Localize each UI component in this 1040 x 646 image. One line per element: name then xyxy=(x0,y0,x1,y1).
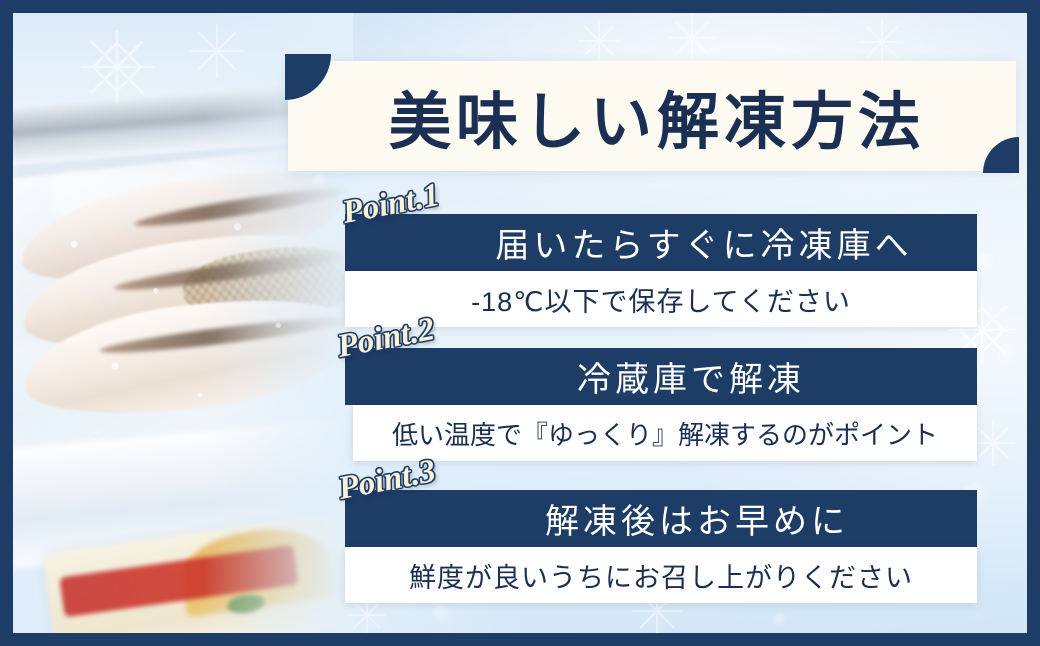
point-heading-bar-3: 解凍後はお早めに xyxy=(345,490,977,547)
point-heading-bar-1: 届いたらすぐに冷凍庫へ xyxy=(345,214,977,271)
snowflake-icon xyxy=(573,15,625,67)
title-banner: 美味しい解凍方法 xyxy=(288,61,1016,171)
bokeh-dot xyxy=(433,605,453,625)
point-block-1: 届いたらすぐに冷凍庫へ -18℃以下で保存してください Point.1 xyxy=(345,214,977,327)
point-heading-text-1: 届いたらすぐに冷凍庫へ xyxy=(495,218,912,267)
bokeh-dot xyxy=(773,613,789,629)
point-heading-bar-2: 冷蔵庫で解凍 xyxy=(345,348,977,405)
point-subtitle-text-1: -18℃以下で保存してください xyxy=(471,280,851,319)
point-subtitle-text-3: 鮮度が良いうちにお召し上がりください xyxy=(409,556,913,595)
bokeh-dot xyxy=(978,253,996,271)
point-heading-text-2: 冷蔵庫で解凍 xyxy=(577,352,805,401)
poster-inner-frame: 美味しい解凍方法 届いたらすぐに冷凍庫へ -18℃以下で保存してください Poi… xyxy=(13,13,1027,633)
point-heading-text-3: 解凍後はお早めに xyxy=(545,494,849,543)
point-block-3: 解凍後はお早めに 鮮度が良いうちにお召し上がりください Point.3 xyxy=(345,490,977,603)
point-block-2: 冷蔵庫で解凍 低い温度で『ゆっくり』解凍するのがポイント Point.2 xyxy=(345,348,977,461)
point-subtitle-box-1: -18℃以下で保存してください xyxy=(345,271,977,327)
bokeh-dot xyxy=(998,343,1020,365)
poster-root: 美味しい解凍方法 届いたらすぐに冷凍庫へ -18℃以下で保存してください Poi… xyxy=(0,0,1040,646)
point-subtitle-text-2: 低い温度で『ゆっくり』解凍するのがポイント xyxy=(392,415,938,452)
point-subtitle-box-3: 鮮度が良いうちにお召し上がりください xyxy=(345,547,977,603)
page-title: 美味しい解凍方法 xyxy=(288,61,1016,171)
point-subtitle-box-2: 低い温度で『ゆっくり』解凍するのがポイント xyxy=(353,405,977,461)
